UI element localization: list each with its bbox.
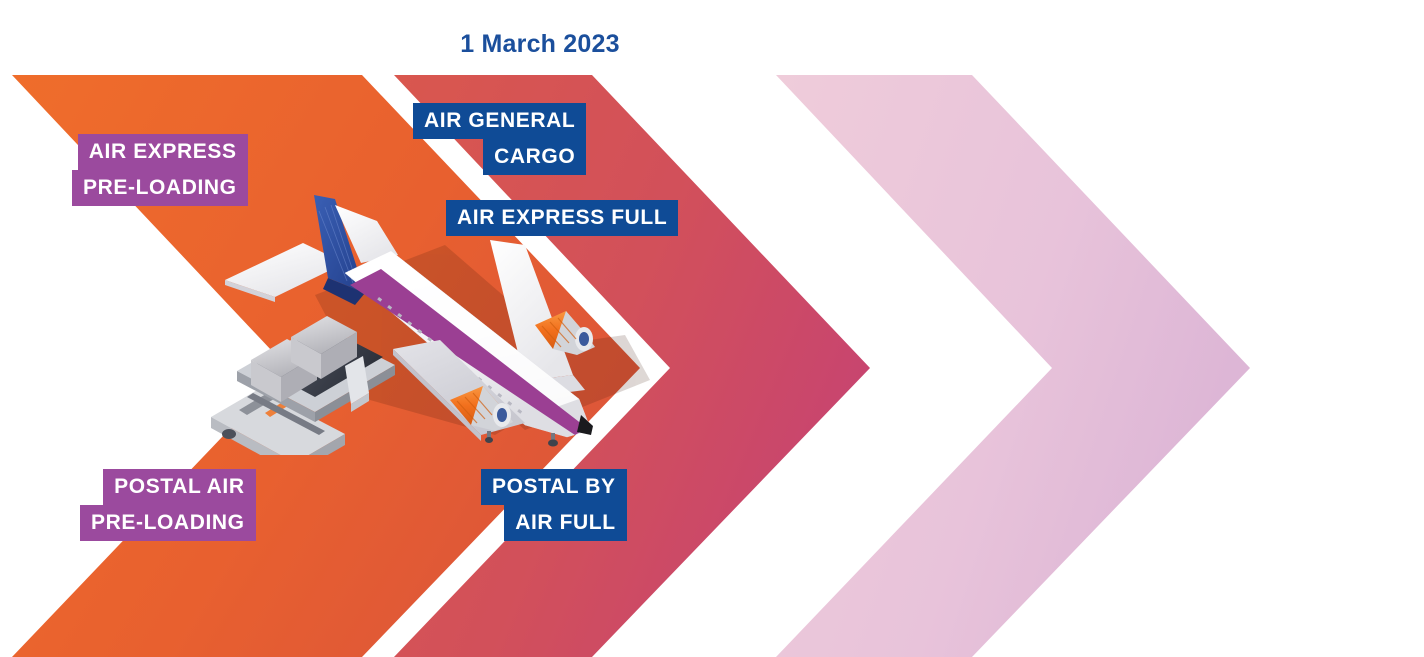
label-line: AIR FULL (504, 505, 626, 541)
label-line: CARGO (483, 139, 586, 175)
label-air-general-cargo[interactable]: AIR GENERAL CARGO (413, 103, 586, 175)
label-line: PRE-LOADING (72, 170, 248, 206)
page-title: 1 March 2023 (0, 30, 1080, 59)
label-air-express-pre-loading[interactable]: AIR EXPRESS PRE-LOADING (72, 134, 248, 206)
infographic-canvas: 1 March 2023 AIR EXPRESS PRE-LOADING POS… (0, 0, 1424, 657)
label-air-express-full[interactable]: AIR EXPRESS FULL (446, 200, 678, 236)
label-line: POSTAL BY (481, 469, 627, 505)
label-postal-air-pre-loading[interactable]: POSTAL AIR PRE-LOADING (80, 469, 256, 541)
label-line: POSTAL AIR (103, 469, 255, 505)
label-line: AIR EXPRESS FULL (446, 200, 678, 236)
label-postal-by-air-full[interactable]: POSTAL BY AIR FULL (481, 469, 627, 541)
label-line: PRE-LOADING (80, 505, 256, 541)
label-line: AIR EXPRESS (78, 134, 248, 170)
label-line: AIR GENERAL (413, 103, 586, 139)
